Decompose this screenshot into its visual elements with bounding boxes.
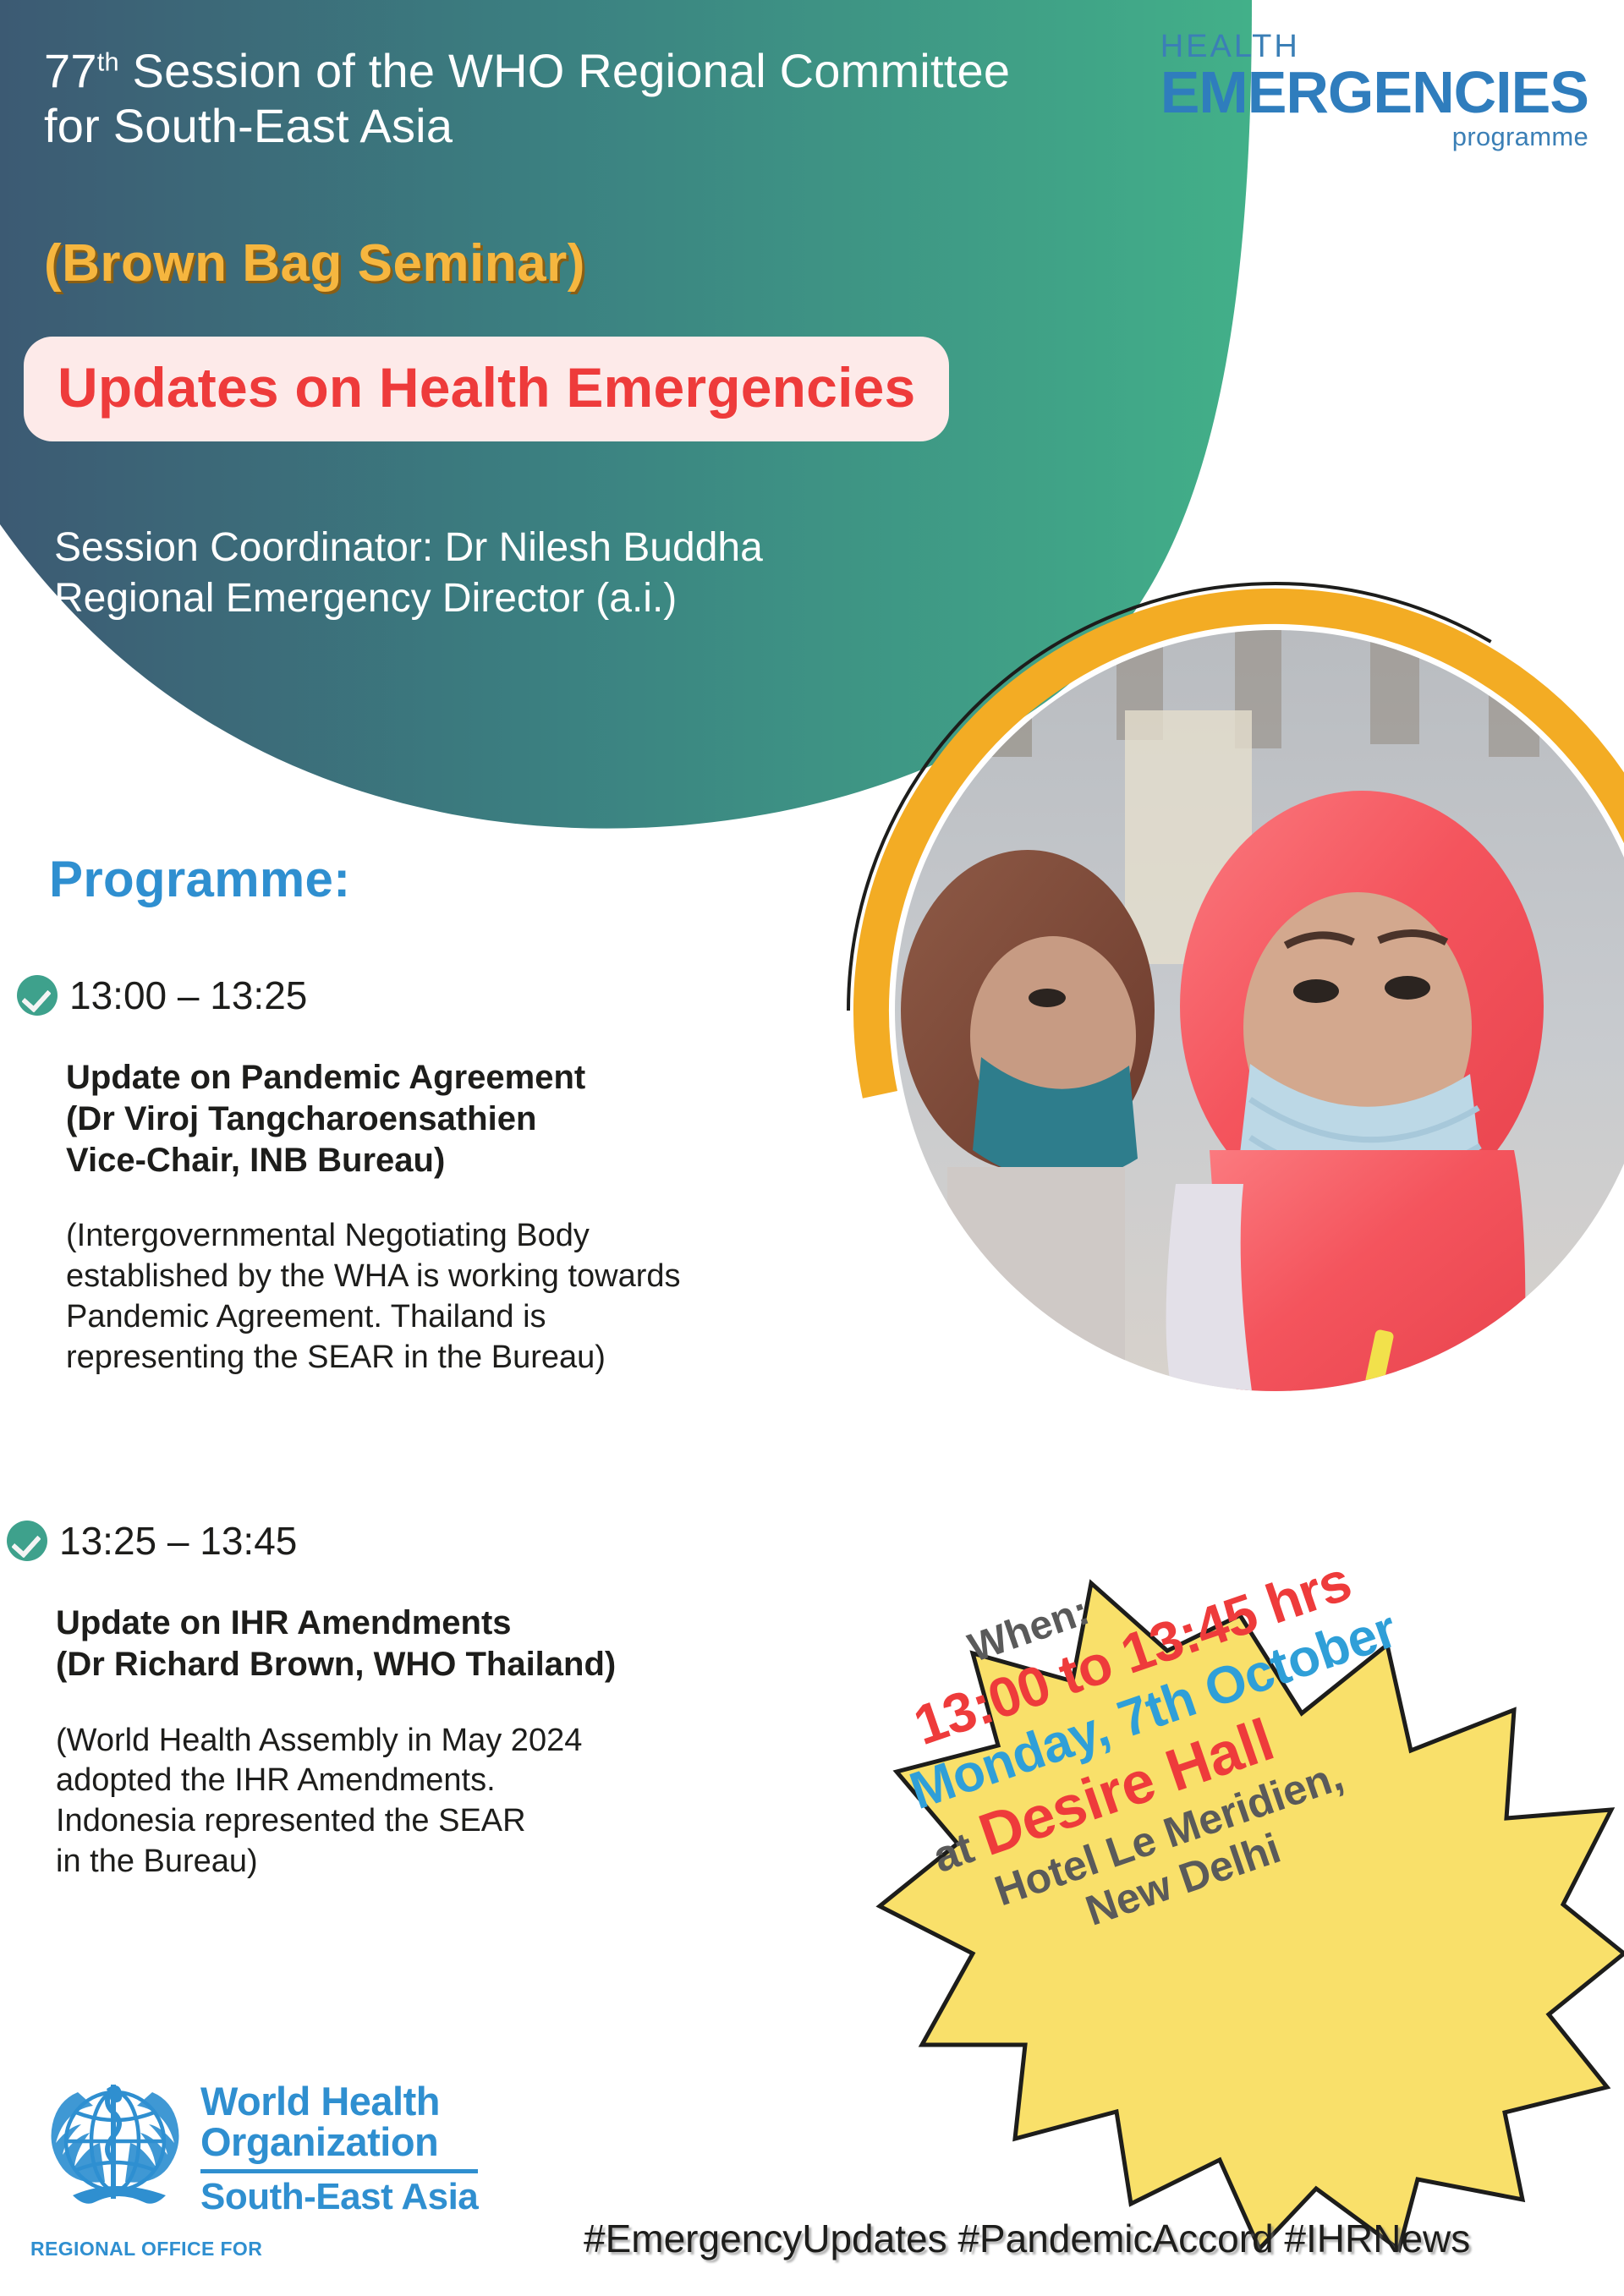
programme-item-1-title-line1: Update on Pandemic Agreement [66, 1057, 930, 1099]
page-title: 77th Session of the WHO Regional Committ… [44, 44, 1160, 154]
coordinator-role: Regional Emergency Director (a.i.) [54, 573, 985, 624]
programme-item-2-title-line1: Update on IHR Amendments [56, 1603, 853, 1644]
programme-item-1-title-line2: (Dr Viroj Tangcharoensathien [66, 1099, 930, 1140]
programme-item-2-description: (World Health Assembly in May 2024 adopt… [56, 1721, 853, 1883]
programme-item-1-desc-line1: (Intergovernmental Negotiating Body [66, 1216, 930, 1257]
who-wordmark: World Health Organization South-East Asi… [200, 2081, 478, 2220]
who-region: South-East Asia [200, 2178, 478, 2217]
he-logo-programme: programme [1160, 123, 1588, 151]
programme-item-1-desc-line3: Pandemic Agreement. Thailand is [66, 1297, 930, 1338]
programme-item-2-title-line2: (Dr Richard Brown, WHO Thailand) [56, 1644, 853, 1685]
photo-health-workers [895, 630, 1624, 1412]
programme-item-2-desc-line2: adopted the IHR Amendments. [56, 1761, 853, 1801]
seminar-label: (Brown Bag Seminar) [44, 233, 585, 293]
programme-item-1-desc-line2: established by the WHA is working toward… [66, 1257, 930, 1297]
who-regional-office-label: REGIONAL OFFICE FOR [30, 2238, 262, 2260]
banner-title: Updates on Health Emergencies [58, 355, 915, 419]
session-coordinator: Session Coordinator: Dr Nilesh Buddha Re… [54, 523, 985, 625]
programme-item-2: 13:25 – 13:45 Update on IHR Amendments (… [7, 1518, 853, 1882]
session-title-line2: for South-East Asia [44, 99, 453, 152]
programme-item-1-description: (Intergovernmental Negotiating Body esta… [66, 1216, 930, 1378]
programme-item-1: 13:00 – 13:25 Update on Pandemic Agreeme… [17, 973, 930, 1378]
programme-item-2-desc-line4: in the Bureau) [56, 1842, 853, 1882]
session-ordinal-suffix: th [97, 47, 119, 76]
programme-item-2-time-row: 13:25 – 13:45 [7, 1518, 853, 1564]
who-line2: Organization [200, 2122, 478, 2162]
programme-item-1-title-line3: Vice-Chair, INB Bureau) [66, 1140, 930, 1181]
who-logo: World Health Organization South-East Asi… [41, 2072, 478, 2220]
health-emergencies-programme-logo: HEALTH EMERGENCIES programme [1160, 30, 1588, 151]
programme-heading: Programme: [49, 850, 350, 908]
programme-item-1-time: 13:00 – 13:25 [69, 973, 307, 1018]
programme-item-2-desc-line1: (World Health Assembly in May 2024 [56, 1721, 853, 1762]
check-circle-icon [17, 975, 58, 1016]
programme-item-2-title: Update on IHR Amendments (Dr Richard Bro… [56, 1603, 853, 1685]
he-logo-health: HEALTH [1160, 30, 1588, 63]
session-title-rest: Session of the WHO Regional Committee [119, 44, 1010, 97]
who-divider [200, 2169, 478, 2173]
programme-item-1-title: Update on Pandemic Agreement (Dr Viroj T… [66, 1057, 930, 1181]
banner-updates-on-health-emergencies: Updates on Health Emergencies [24, 337, 949, 441]
who-line1: World Health [200, 2081, 478, 2122]
coordinator-name: Session Coordinator: Dr Nilesh Buddha [54, 523, 985, 573]
programme-item-1-desc-line4: representing the SEAR in the Bureau) [66, 1338, 930, 1378]
who-emblem-spacer [41, 2072, 189, 2220]
he-logo-emergencies: EMERGENCIES [1160, 63, 1588, 123]
programme-item-2-desc-line3: Indonesia represented the SEAR [56, 1801, 853, 1842]
session-number: 77 [44, 44, 97, 97]
programme-item-2-time: 13:25 – 13:45 [59, 1518, 297, 1564]
check-circle-icon [7, 1521, 47, 1561]
footer-hashtags: #EmergencyUpdates #PandemicAccord #IHRNe… [584, 2216, 1470, 2261]
programme-item-1-time-row: 13:00 – 13:25 [17, 973, 930, 1018]
